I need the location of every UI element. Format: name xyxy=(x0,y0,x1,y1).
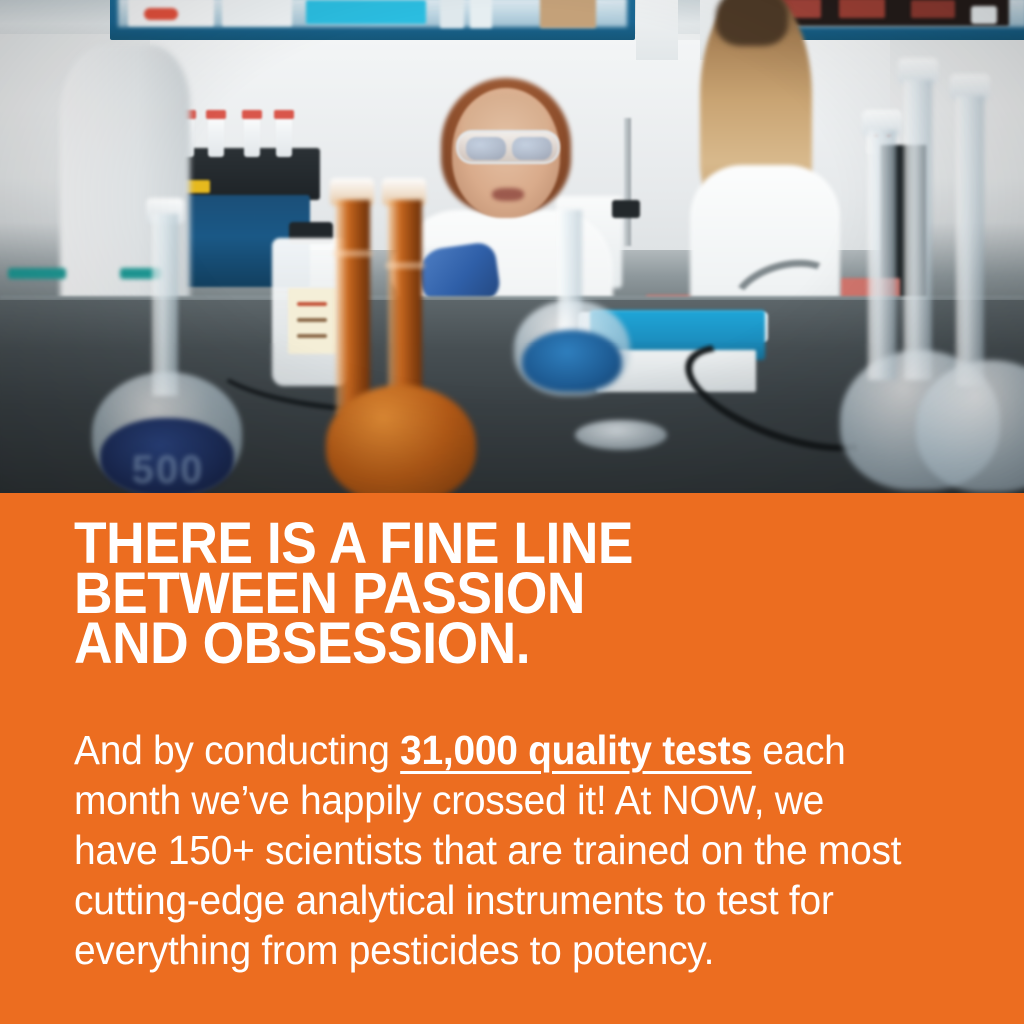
cabinet-carton xyxy=(540,0,596,28)
label-mark-2 xyxy=(297,318,327,322)
poster-root: 500 THERE IS A FINE LINE BETWEEN PASSION… xyxy=(0,0,1024,1024)
label-mark-1 xyxy=(297,302,327,306)
retort-stand-clamp xyxy=(612,200,640,218)
safety-goggles-icon xyxy=(456,130,560,164)
vial-cap-3 xyxy=(242,110,262,119)
vial-cap-4 xyxy=(274,110,294,119)
flask-500-volume-label: 500 xyxy=(108,448,228,493)
scientist-center-mouth xyxy=(492,188,524,201)
clear-flask-4-liquid xyxy=(522,330,622,392)
amber-flask-2-neck xyxy=(388,200,422,415)
teal-cap-band-left xyxy=(8,268,66,279)
sample-vial-3 xyxy=(244,115,260,157)
retort-stand-rod xyxy=(624,118,631,246)
goggle-lens-right xyxy=(512,137,552,160)
amber-flask-2-ring xyxy=(385,262,425,269)
cabinet-divider-left xyxy=(636,0,678,60)
wall-cabinet-left xyxy=(110,0,635,40)
goggle-lens-left xyxy=(466,137,506,160)
cabinet-red-box-2 xyxy=(839,0,885,18)
orange-message-panel: THERE IS A FINE LINE BETWEEN PASSION AND… xyxy=(0,493,1024,1024)
amber-flask-bulb xyxy=(326,385,476,493)
clear-flask-3-neck xyxy=(868,130,896,380)
cabinet-blue-tray xyxy=(306,0,426,24)
cabinet-box-red-label xyxy=(144,8,178,20)
cabinet-white-cup xyxy=(971,6,997,24)
wash-bottle-label xyxy=(288,288,336,354)
body-copy-intro: And by conducting xyxy=(74,727,400,773)
sample-vial-4 xyxy=(276,115,292,157)
sample-vial-2 xyxy=(208,115,224,157)
lab-photo: 500 xyxy=(0,0,1024,493)
cabinet-box-2 xyxy=(222,0,292,26)
cabinet-bottle-1 xyxy=(440,0,464,28)
clear-flask-2-neck xyxy=(956,96,984,386)
headline-line-3: AND OBSESSION. xyxy=(74,619,902,669)
headline: THERE IS A FINE LINE BETWEEN PASSION AND… xyxy=(74,519,902,669)
cabinet-bottle-2 xyxy=(470,0,492,28)
amber-flask-1-neck xyxy=(336,200,370,415)
vial-cap-2 xyxy=(206,110,226,119)
body-copy: And by conducting 31,000 quality tests e… xyxy=(74,725,910,975)
amber-flask-1-ring xyxy=(333,250,373,257)
clear-flask-1-neck xyxy=(904,80,932,380)
scientist-right-hair-roots xyxy=(716,0,788,46)
label-mark-3 xyxy=(297,334,327,338)
quality-tests-highlight: 31,000 quality tests xyxy=(400,727,752,773)
petri-dish xyxy=(575,420,667,450)
cabinet-red-box-3 xyxy=(911,0,955,18)
flask-500-neck xyxy=(152,214,178,396)
